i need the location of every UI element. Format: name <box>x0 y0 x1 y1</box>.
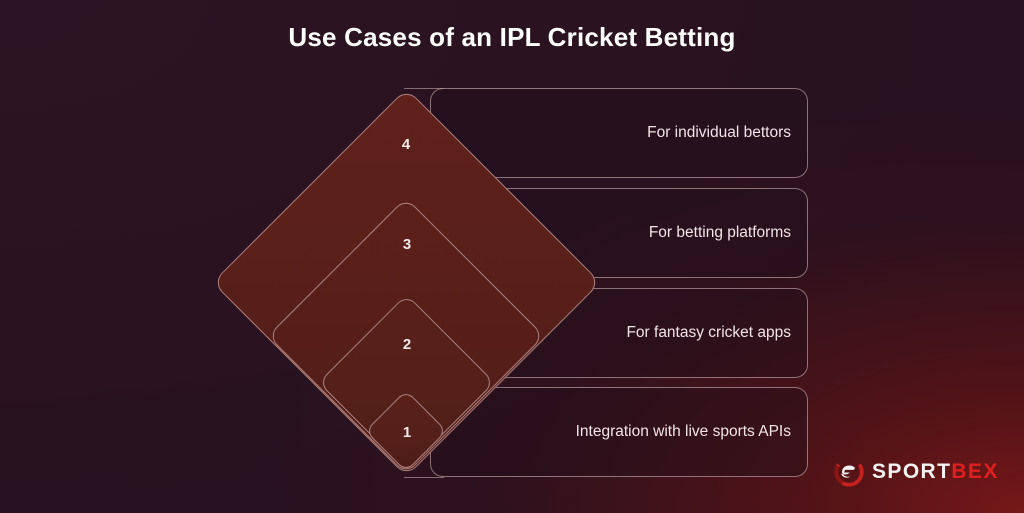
brand-logo[interactable]: SPORTBEX <box>834 457 999 487</box>
logo-word-primary: SPORT <box>872 460 951 483</box>
diamond-number-2: 2 <box>387 336 427 353</box>
diamond-number-1: 1 <box>387 424 427 441</box>
logo-word-accent: BEX <box>951 460 998 483</box>
logo-wordmark: SPORTBEX <box>872 460 999 484</box>
sportbex-swoosh-icon <box>834 457 864 487</box>
diamond-stack: 4 3 2 1 <box>0 0 1024 513</box>
infographic-canvas: Use Cases of an IPL Cricket Betting For … <box>0 0 1024 513</box>
diamond-number-3: 3 <box>387 236 427 253</box>
diamond-number-4: 4 <box>386 136 426 153</box>
